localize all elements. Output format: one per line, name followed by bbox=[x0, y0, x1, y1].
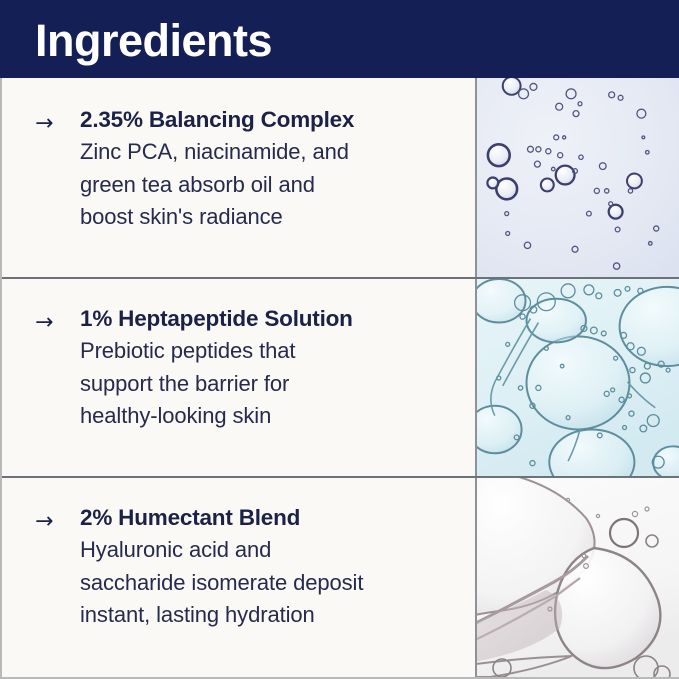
ingredient-description: Zinc PCA, niacinamide, and green tea abs… bbox=[80, 136, 470, 234]
desc-line: instant, lasting hydration bbox=[80, 599, 470, 632]
ingredient-description: Hyaluronic acid and saccharide isomerate… bbox=[80, 534, 470, 632]
arrow-right-icon: → bbox=[35, 111, 53, 137]
panel-graphic-2 bbox=[477, 279, 679, 476]
desc-line: green tea absorb oil and bbox=[80, 169, 470, 202]
bubbles-cyan-macro-image bbox=[475, 279, 679, 476]
list-item: → 2% Humectant Blend Hyaluronic acid and… bbox=[2, 478, 679, 677]
panel-graphic-1 bbox=[477, 78, 679, 277]
page-title: Ingredients bbox=[35, 12, 272, 70]
desc-line: support the barrier for bbox=[80, 368, 470, 401]
ingredient-title: 2.35% Balancing Complex bbox=[80, 104, 470, 136]
list-item: → 1% Heptapeptide Solution Prebiotic pep… bbox=[2, 279, 679, 478]
bubbles-lavender-macro-image bbox=[475, 78, 679, 277]
desc-line: Hyaluronic acid and bbox=[80, 534, 470, 567]
desc-line: Prebiotic peptides that bbox=[80, 335, 470, 368]
desc-line: healthy-looking skin bbox=[80, 400, 470, 433]
ingredient-description: Prebiotic peptides that support the barr… bbox=[80, 335, 470, 433]
ingredients-card: Ingredients → 2.35% Balancing Complex Zi… bbox=[0, 0, 679, 679]
ingredient-copy-2: 1% Heptapeptide Solution Prebiotic pepti… bbox=[80, 303, 470, 433]
desc-line: boost skin's radiance bbox=[80, 201, 470, 234]
ingredient-copy-1: 2.35% Balancing Complex Zinc PCA, niacin… bbox=[80, 104, 470, 234]
list-item: → 2.35% Balancing Complex Zinc PCA, niac… bbox=[2, 78, 679, 279]
ingredient-text-2: → 1% Heptapeptide Solution Prebiotic pep… bbox=[2, 279, 473, 476]
ingredient-text-1: → 2.35% Balancing Complex Zinc PCA, niac… bbox=[2, 78, 473, 277]
ingredient-title: 1% Heptapeptide Solution bbox=[80, 303, 470, 335]
arrow-right-icon: → bbox=[35, 310, 53, 336]
panel-graphic-3 bbox=[477, 478, 679, 677]
ingredients-list: → 2.35% Balancing Complex Zinc PCA, niac… bbox=[0, 78, 679, 679]
arrow-right-icon: → bbox=[35, 509, 53, 535]
ingredient-text-3: → 2% Humectant Blend Hyaluronic acid and… bbox=[2, 478, 473, 677]
desc-line: saccharide isomerate deposit bbox=[80, 567, 470, 600]
ingredient-title: 2% Humectant Blend bbox=[80, 502, 470, 534]
header-bar: Ingredients bbox=[0, 0, 679, 78]
bubbles-clear-macro-image bbox=[475, 478, 679, 677]
ingredient-copy-3: 2% Humectant Blend Hyaluronic acid and s… bbox=[80, 502, 470, 632]
desc-line: Zinc PCA, niacinamide, and bbox=[80, 136, 470, 169]
